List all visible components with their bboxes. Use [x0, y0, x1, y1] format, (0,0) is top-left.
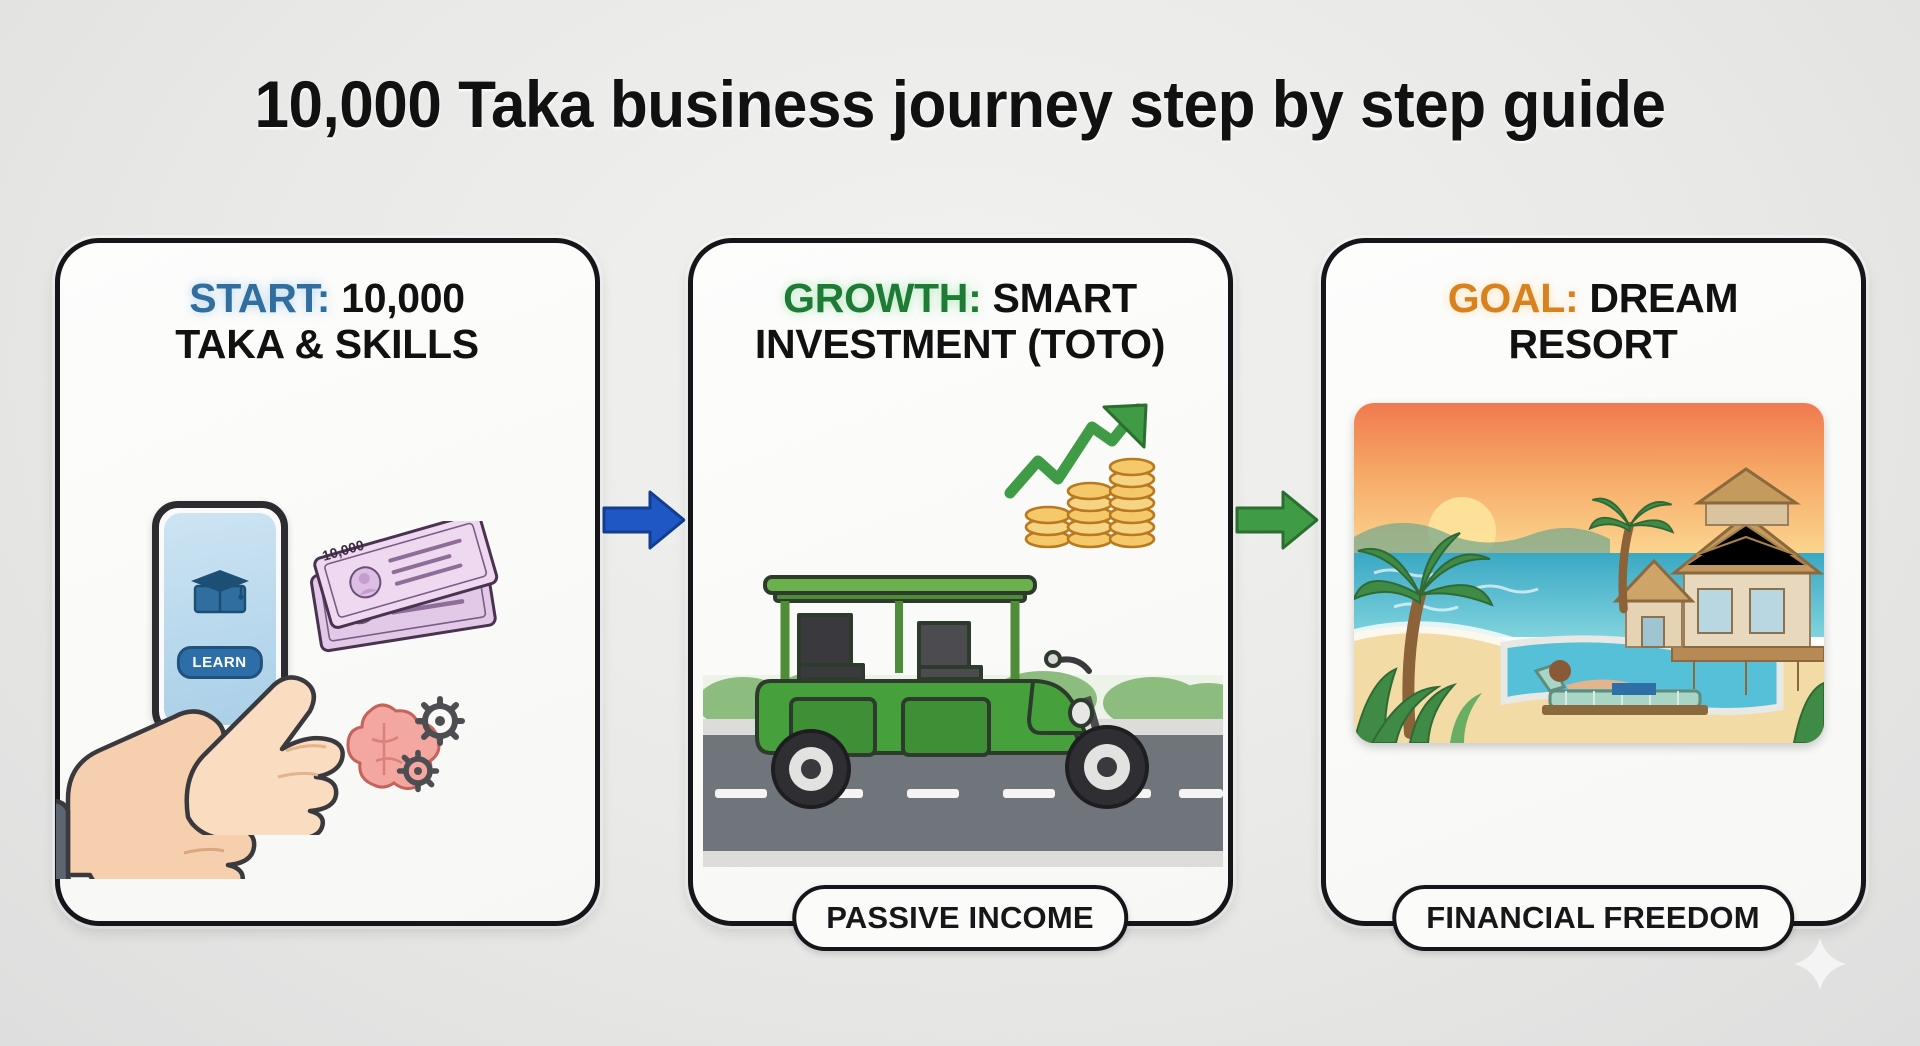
beach-resort-illustration [1354, 403, 1824, 743]
step-keyword-growth: GROWTH: [783, 275, 981, 321]
step-card-growth[interactable]: GROWTH: SMART INVESTMENT (TOTO) [688, 238, 1233, 926]
arrow-growth-to-goal-icon [1235, 486, 1319, 554]
step-heading-start: START: 10,000 TAKA & SKILLS [60, 243, 595, 368]
journey-flow: START: 10,000 TAKA & SKILLS ৳৳ [0, 238, 1920, 968]
step-heading-line2-start: TAKA & SKILLS [175, 321, 479, 367]
step-art-goal [1326, 393, 1861, 921]
arrow-gap-2 [1233, 238, 1321, 926]
step-heading-rest-goal: DREAM [1578, 275, 1738, 321]
page-title: 10,000 Taka business journey step by ste… [58, 66, 1863, 142]
step-heading-rest-growth: SMART [981, 275, 1136, 321]
growth-arrow-coin-stack-icon [1004, 401, 1194, 551]
step-heading-line2-growth: INVESTMENT (TOTO) [755, 321, 1165, 367]
step-art-growth [693, 393, 1228, 921]
step-heading-growth: GROWTH: SMART INVESTMENT (TOTO) [693, 243, 1228, 368]
step-heading-rest-start: 10,000 [330, 275, 465, 321]
badge-passive-income: PASSIVE INCOME [792, 885, 1128, 951]
step-keyword-start: START: [189, 275, 330, 321]
step-heading-goal: GOAL: DREAM RESORT [1326, 243, 1861, 368]
sparkle-icon [1792, 936, 1848, 992]
pointing-hand-icon [178, 605, 428, 835]
step-heading-line2-goal: RESORT [1508, 321, 1677, 367]
step-keyword-goal: GOAL: [1448, 275, 1579, 321]
step-card-start[interactable]: START: 10,000 TAKA & SKILLS ৳৳ [55, 238, 600, 926]
arrow-start-to-growth-icon [602, 486, 686, 554]
badge-financial-freedom: FINANCIAL FREEDOM [1392, 885, 1794, 951]
arrow-gap-1 [600, 238, 688, 926]
step-art-start: ৳৳ 10,000 [60, 393, 595, 921]
step-card-goal[interactable]: GOAL: DREAM RESORT [1321, 238, 1866, 926]
toto-auto-rickshaw-icon [703, 553, 1223, 883]
